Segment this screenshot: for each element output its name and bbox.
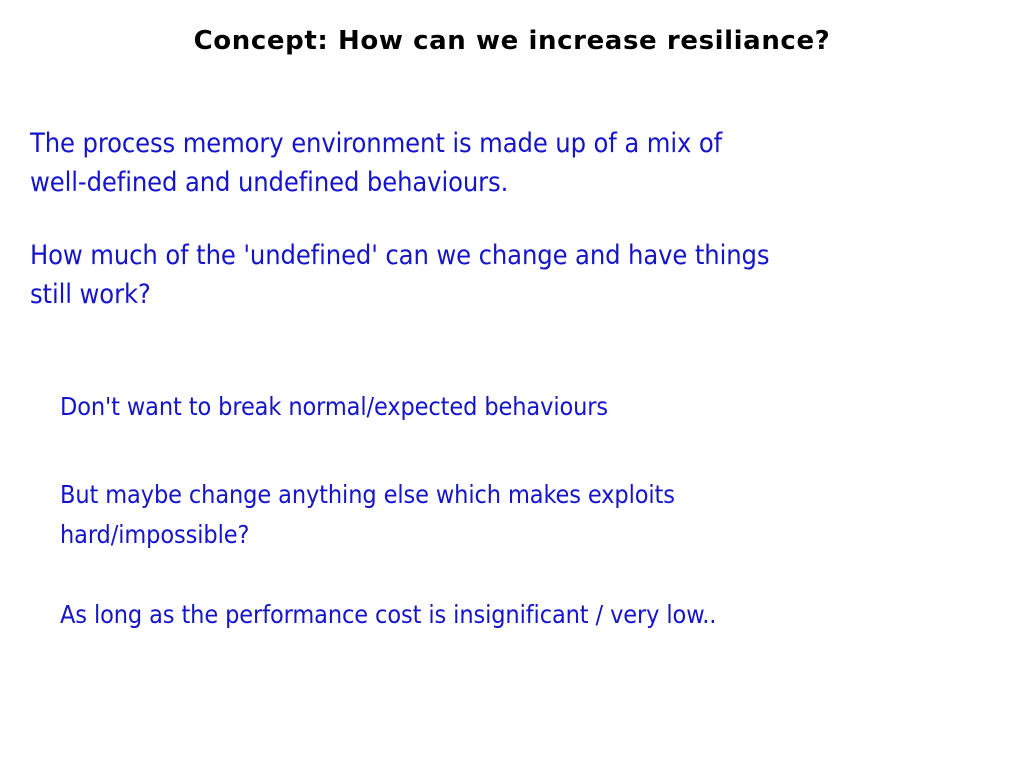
slide-canvas: Concept: How can we increase resiliance?… <box>0 0 1024 768</box>
page-title: Concept: How can we increase resiliance? <box>0 27 1024 56</box>
bullet-point-3: As long as the performance cost is insig… <box>60 595 940 635</box>
body-paragraph-1: The process memory environment is made u… <box>30 124 860 202</box>
body-paragraph-2: How much of the 'undefined' can we chang… <box>30 236 900 314</box>
bullet-point-1: Don't want to break normal/expected beha… <box>60 387 880 427</box>
bullet-point-2: But maybe change anything else which mak… <box>60 475 850 555</box>
